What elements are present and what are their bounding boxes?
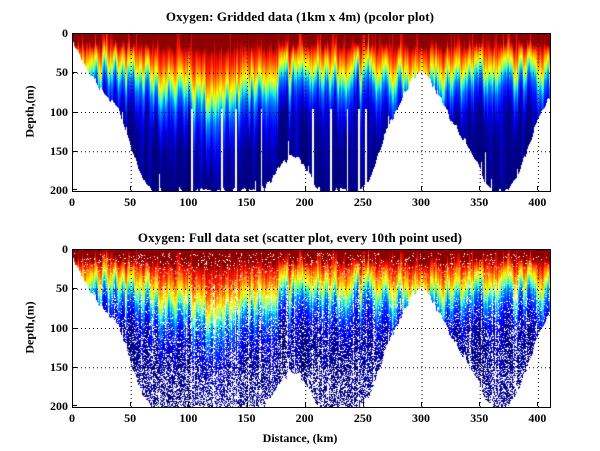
figure-canvas: Oxygen: Gridded data (1km x 4m) (pcolor … xyxy=(0,0,600,451)
x-tick-350: 350 xyxy=(470,196,488,208)
axes-scatter xyxy=(72,249,551,408)
x-tick-400: 400 xyxy=(528,196,546,208)
x-tickmark xyxy=(247,402,248,406)
y-tick-50: 50 xyxy=(56,66,68,78)
y-tickmark xyxy=(73,151,77,152)
y-tick-0: 0 xyxy=(62,243,68,255)
y-tick-0: 0 xyxy=(62,27,68,39)
x-tick-300: 300 xyxy=(412,196,430,208)
x-tickmark xyxy=(247,186,248,190)
x-tick-50: 50 xyxy=(124,196,136,208)
y-tickmark xyxy=(73,33,77,34)
x-tick-0: 0 xyxy=(69,196,75,208)
y-tick-200: 200 xyxy=(50,184,68,196)
y-tickmark xyxy=(73,112,77,113)
x-tickmark xyxy=(479,186,480,190)
y-axis-label-gridded: Depth,(m) xyxy=(23,81,38,141)
y-tickmark xyxy=(73,328,77,329)
x-tick-250: 250 xyxy=(354,412,372,424)
y-tick-100: 100 xyxy=(50,322,68,334)
x-tick-200: 200 xyxy=(296,196,314,208)
y-tickmark xyxy=(73,72,77,73)
x-tickmark xyxy=(537,402,538,406)
x-tick-150: 150 xyxy=(238,196,256,208)
axes-gridded xyxy=(72,33,551,192)
x-tick-250: 250 xyxy=(354,196,372,208)
x-tick-300: 300 xyxy=(412,412,430,424)
x-tickmark xyxy=(305,186,306,190)
x-tick-350: 350 xyxy=(470,412,488,424)
y-tick-150: 150 xyxy=(50,361,68,373)
y-tick-50: 50 xyxy=(56,282,68,294)
y-tickmark xyxy=(73,288,77,289)
x-tick-100: 100 xyxy=(179,196,197,208)
x-tickmark xyxy=(130,402,131,406)
x-tickmark xyxy=(479,402,480,406)
panel-gridded: Oxygen: Gridded data (1km x 4m) (pcolor … xyxy=(0,0,600,225)
x-tickmark xyxy=(188,186,189,190)
panel-scatter: Oxygen: Full data set (scatter plot, eve… xyxy=(0,216,600,451)
x-tickmark xyxy=(305,402,306,406)
y-tickmark xyxy=(73,249,77,250)
x-tickmark xyxy=(421,402,422,406)
y-tick-200: 200 xyxy=(50,400,68,412)
x-tick-400: 400 xyxy=(528,412,546,424)
x-tick-100: 100 xyxy=(179,412,197,424)
x-tickmark xyxy=(537,186,538,190)
y-tickmark xyxy=(73,405,77,406)
y-tickmark xyxy=(73,189,77,190)
x-tick-200: 200 xyxy=(296,412,314,424)
panel-title-scatter: Oxygen: Full data set (scatter plot, eve… xyxy=(0,230,600,246)
y-tick-100: 100 xyxy=(50,106,68,118)
y-axis-label-scatter: Depth,(m) xyxy=(23,297,38,357)
x-tickmark xyxy=(188,402,189,406)
x-tick-50: 50 xyxy=(124,412,136,424)
x-axis-label-distance: Distance, (km) xyxy=(0,431,600,446)
panel-title-gridded: Oxygen: Gridded data (1km x 4m) (pcolor … xyxy=(0,9,600,25)
x-tickmark xyxy=(363,402,364,406)
pcolor-section-plot xyxy=(73,34,550,191)
x-tickmark xyxy=(130,186,131,190)
x-tick-150: 150 xyxy=(238,412,256,424)
x-tickmark xyxy=(421,186,422,190)
x-tickmark xyxy=(363,186,364,190)
x-tick-0: 0 xyxy=(69,412,75,424)
y-tick-150: 150 xyxy=(50,145,68,157)
y-tickmark xyxy=(73,367,77,368)
scatter-section-plot xyxy=(73,250,550,407)
